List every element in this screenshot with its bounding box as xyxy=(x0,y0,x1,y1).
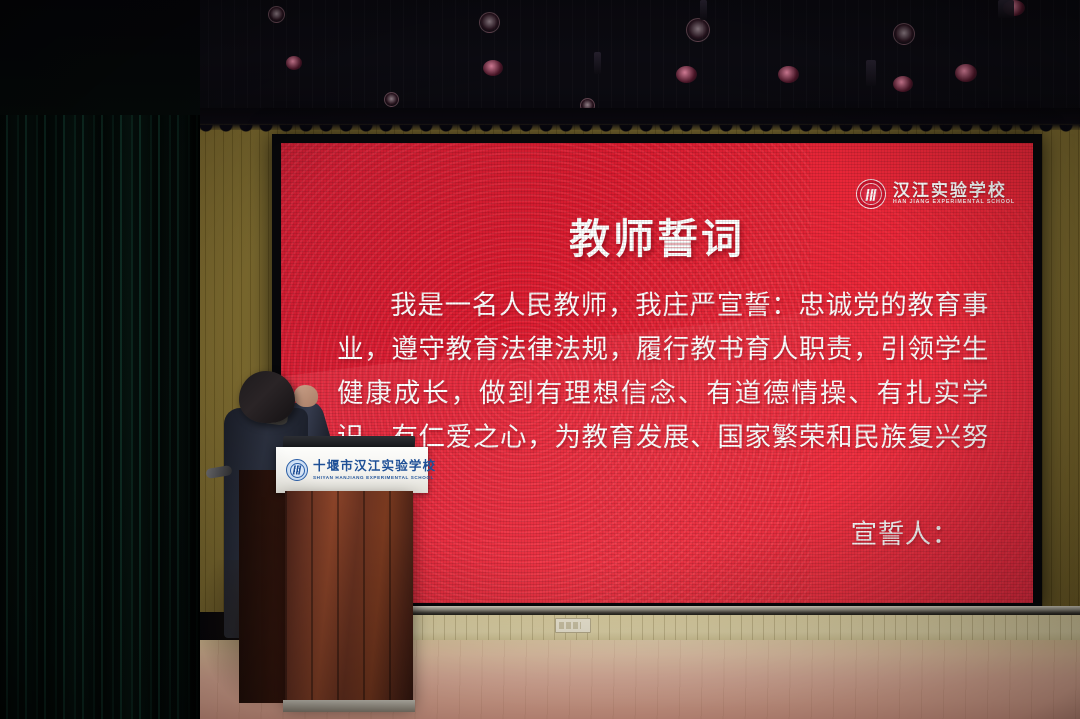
stage-valance xyxy=(196,108,1080,130)
light-rig-bar xyxy=(700,0,707,20)
light-rig-bar xyxy=(594,52,601,74)
podium-base xyxy=(283,700,415,712)
auditorium-stage-photo: 汉江实验学校 HAN JIANG EXPERIMENTAL SCHOOL 教师誓… xyxy=(0,0,1080,719)
stage-light-icon xyxy=(676,66,697,83)
podium-plate-text: 十堰市汉江实验学校 SHIYAN HANJIANG EXPERIMENTAL S… xyxy=(313,460,436,480)
light-rig-bar xyxy=(998,0,1014,18)
presenter-raised-fist xyxy=(294,385,318,407)
light-rig-bar xyxy=(866,60,876,86)
stage-light-icon xyxy=(479,12,500,33)
stage-light-icon xyxy=(286,56,302,70)
slide-title: 教师誓词 xyxy=(281,205,1033,265)
stage-light-icon xyxy=(483,60,503,76)
podium-sign-en: SHIYAN HANJIANG EXPERIMENTAL SCHOOL xyxy=(313,475,436,480)
school-crest-blue-icon xyxy=(286,459,308,481)
stage-light-icon xyxy=(778,66,799,83)
slide-signer-label: 宣誓人： xyxy=(851,512,959,551)
stage-light-icon xyxy=(893,76,913,92)
power-outlet xyxy=(555,618,591,633)
presenter-head xyxy=(239,371,295,423)
podium-front-body xyxy=(285,491,413,703)
podium-sign-cn: 十堰市汉江实验学校 xyxy=(313,460,436,474)
stage-light-icon xyxy=(686,18,710,42)
stage-light-icon xyxy=(384,92,399,107)
stage-light-icon xyxy=(268,6,285,23)
podium-side-panel xyxy=(239,470,287,703)
slide-logo-text: 汉江实验学校 HAN JIANG EXPERIMENTAL SCHOOL xyxy=(893,182,1015,206)
stage-light-icon xyxy=(893,23,915,45)
podium-name-plate: 十堰市汉江实验学校 SHIYAN HANJIANG EXPERIMENTAL S… xyxy=(276,447,428,493)
stage-light-icon xyxy=(955,64,977,82)
curtain-top-shadow xyxy=(0,0,200,115)
slide-logo-name-cn: 汉江实验学校 xyxy=(893,182,1015,199)
